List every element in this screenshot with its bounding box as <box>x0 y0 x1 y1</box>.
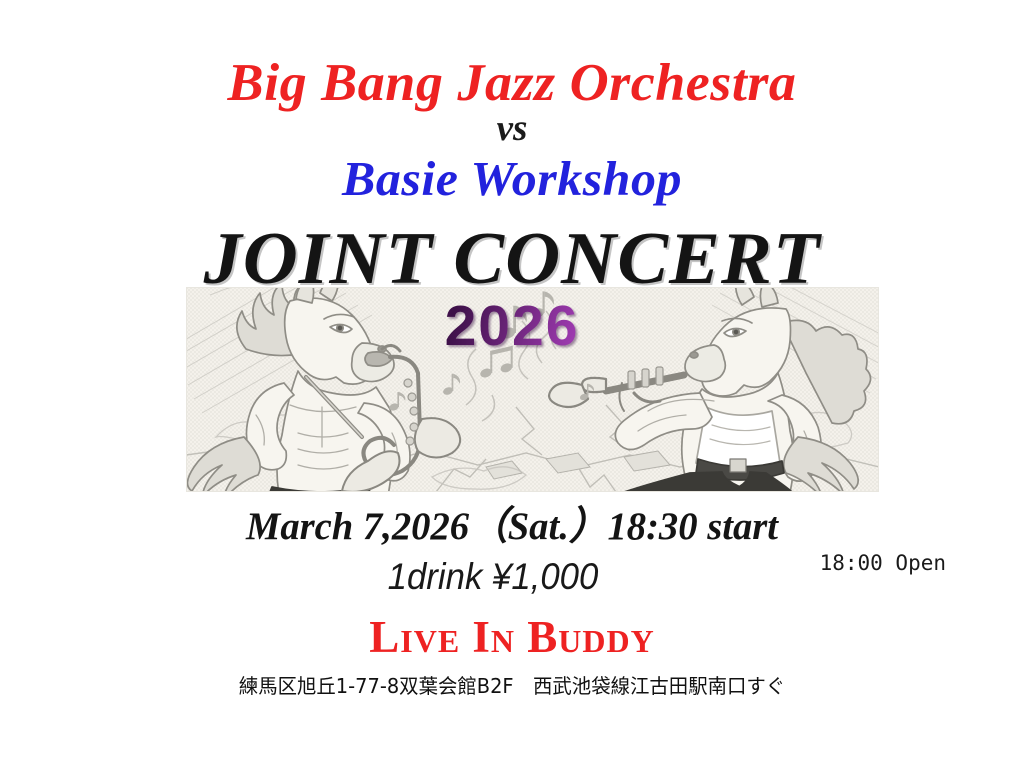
band-b-name: Basie Workshop <box>0 152 1024 206</box>
concert-flyer: Big Bang Jazz Orchestra vs Basie Worksho… <box>0 0 1024 768</box>
page-title: JOINT CONCERT <box>0 219 1024 299</box>
venue-name: Live In Buddy <box>0 612 1024 662</box>
event-date-line: March 7,2026（Sat.）18:30 start <box>5 505 1019 549</box>
versus-label: vs <box>0 108 1024 150</box>
venue-address: 練馬区旭丘1-77-8双葉会館B2F 西武池袋線江古田駅南口すぐ <box>15 673 1008 699</box>
band-a-name: Big Bang Jazz Orchestra <box>0 54 1024 112</box>
year-badge: 2026 <box>0 295 1024 357</box>
drink-price: 1drink ¥1,000 <box>12 556 975 598</box>
